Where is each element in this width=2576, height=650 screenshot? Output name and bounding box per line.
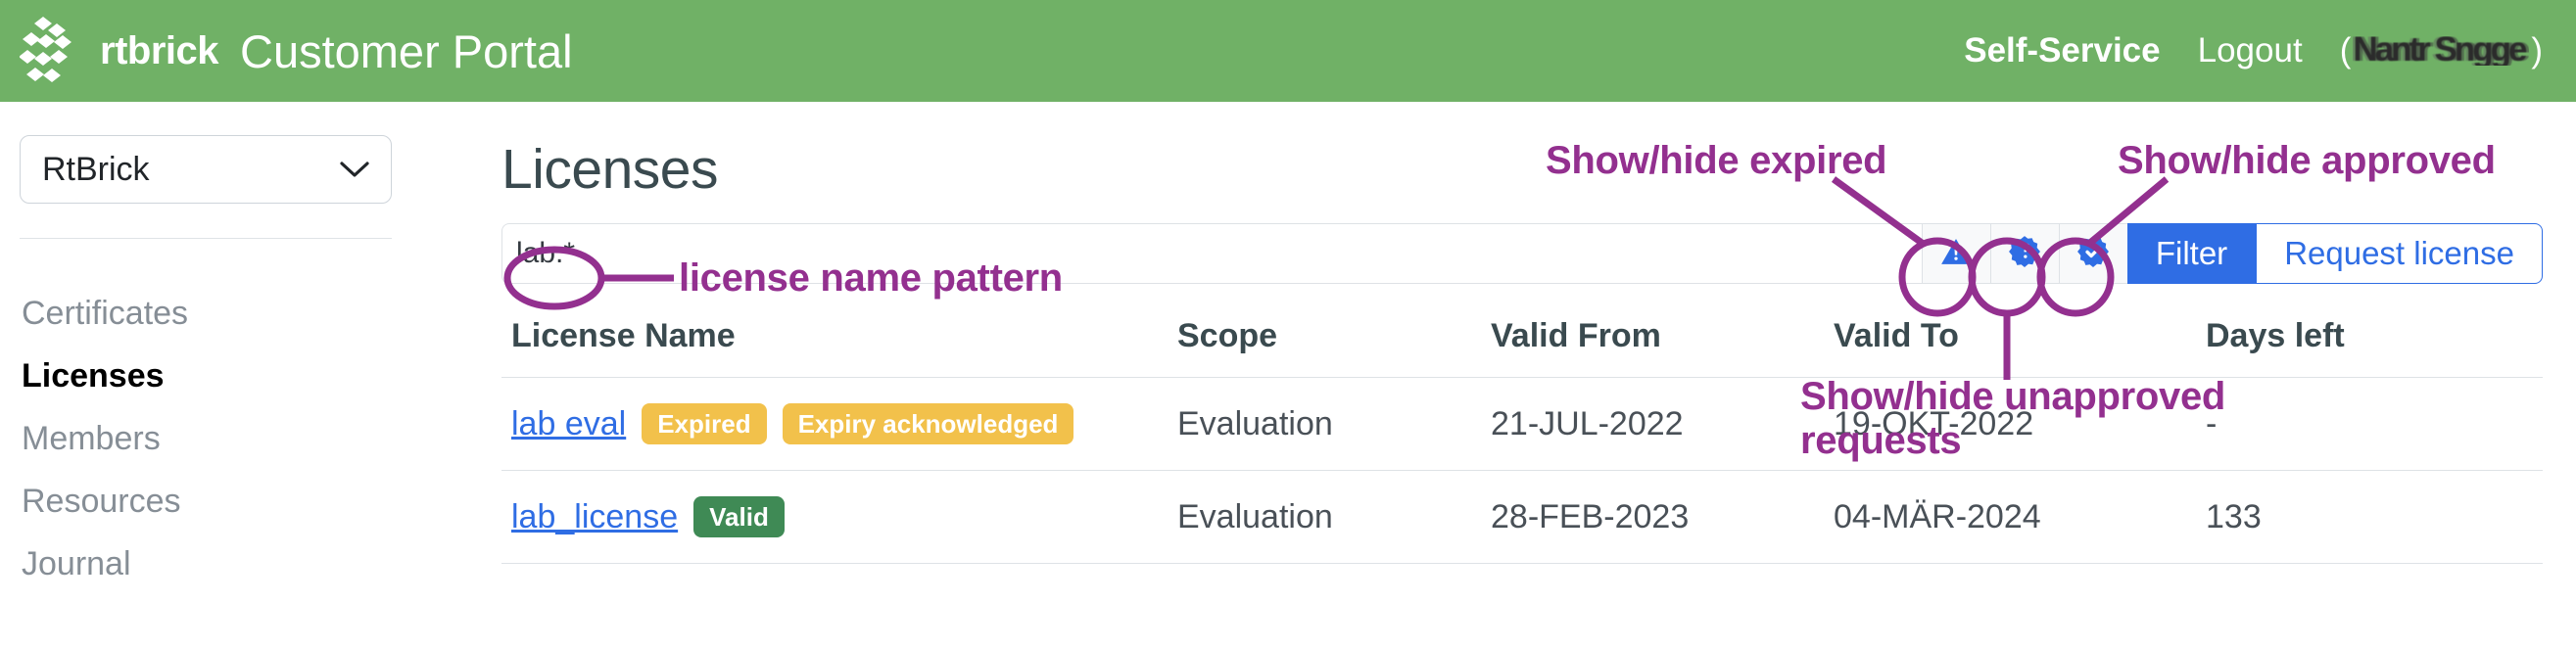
brand-wordmark: rtbrick [100, 31, 218, 70]
column-header-valid-from[interactable]: Valid From [1491, 317, 1834, 378]
app-root: rtbrick Customer Portal Self-Service Log… [0, 0, 2576, 650]
status-badge: Expired [642, 403, 766, 444]
show-hide-unapproved-requests-button[interactable] [1990, 223, 2059, 284]
sidebar: RtBrick Certificates Licenses Members Re… [0, 102, 411, 595]
page-title: Licenses [501, 137, 2576, 202]
current-user: ( Nantr Sngge ) [2340, 31, 2543, 70]
sidebar-divider [20, 238, 392, 239]
license-name-link[interactable]: lab_license [511, 498, 678, 536]
app-title: Customer Portal [240, 28, 573, 74]
table-row[interactable]: lab_license Valid Evaluation 28-FEB-2023… [501, 471, 2543, 564]
search-input-value: lab.* [516, 237, 575, 270]
table-header-row: License Name Scope Valid From Valid To D… [501, 317, 2543, 378]
app-header: rtbrick Customer Portal Self-Service Log… [0, 0, 2576, 102]
show-hide-approved-button[interactable] [2059, 223, 2127, 284]
sidebar-item-label: Members [22, 420, 161, 458]
cell-scope: Evaluation [1177, 378, 1491, 471]
main-content: Licenses lab.* [501, 102, 2576, 564]
cell-license-name: lab eval Expired Expiry acknowledged [501, 378, 1177, 471]
user-name-redacted: Nantr Sngge [2353, 36, 2529, 66]
user-paren-close: ) [2531, 31, 2543, 70]
header-nav: Self-Service Logout ( Nantr Sngge ) [1964, 31, 2543, 70]
cell-scope: Evaluation [1177, 471, 1491, 564]
sidebar-item-resources[interactable]: Resources [0, 470, 411, 533]
license-name-link[interactable]: lab eval [511, 405, 626, 443]
search-input[interactable]: lab.* [501, 223, 1922, 284]
sidebar-item-journal[interactable]: Journal [0, 533, 411, 595]
status-badge: Valid [693, 496, 785, 537]
sidebar-item-licenses[interactable]: Licenses [0, 345, 411, 407]
cell-valid-from: 21-JUL-2022 [1491, 378, 1834, 471]
chevron-down-icon [340, 161, 369, 178]
license-toolbar: lab.* [501, 223, 2543, 284]
column-header-days-left[interactable]: Days left [2206, 317, 2543, 378]
table-row[interactable]: lab eval Expired Expiry acknowledged Eva… [501, 378, 2543, 471]
filter-button[interactable]: Filter [2127, 223, 2256, 284]
licenses-table-head: License Name Scope Valid From Valid To D… [501, 317, 2543, 378]
cell-valid-to: 19-OKT-2022 [1834, 378, 2206, 471]
status-badge: Expiry acknowledged [783, 403, 1074, 444]
licenses-table: License Name Scope Valid From Valid To D… [501, 317, 2543, 564]
org-selector[interactable]: RtBrick [20, 135, 392, 204]
cell-valid-from: 28-FEB-2023 [1491, 471, 1834, 564]
brand[interactable]: rtbrick Customer Portal [20, 13, 573, 89]
cell-days-left: 133 [2206, 471, 2543, 564]
sidebar-nav: Certificates Licenses Members Resources … [0, 282, 411, 595]
nav-logout[interactable]: Logout [2198, 31, 2303, 70]
request-license-button[interactable]: Request license [2256, 223, 2543, 284]
column-header-license-name[interactable]: License Name [501, 317, 1177, 378]
cell-license-name: lab_license Valid [501, 471, 1177, 564]
sidebar-item-certificates[interactable]: Certificates [0, 282, 411, 345]
patch-question-icon [2008, 235, 2041, 273]
column-header-scope[interactable]: Scope [1177, 317, 1491, 378]
org-selector-value: RtBrick [42, 151, 340, 189]
patch-check-icon [2076, 235, 2110, 273]
cell-valid-to: 04-MÄR-2024 [1834, 471, 2206, 564]
sidebar-item-label: Journal [22, 545, 131, 583]
rtbrick-cube-logo-icon [20, 13, 96, 89]
warning-triangle-icon [1939, 235, 1973, 273]
sidebar-item-label: Certificates [22, 295, 188, 333]
licenses-table-body: lab eval Expired Expiry acknowledged Eva… [501, 378, 2543, 564]
cell-days-left: - [2206, 378, 2543, 471]
column-header-valid-to[interactable]: Valid To [1834, 317, 2206, 378]
sidebar-item-label: Resources [22, 483, 181, 521]
nav-self-service[interactable]: Self-Service [1964, 31, 2160, 70]
show-hide-expired-button[interactable] [1922, 223, 1990, 284]
user-paren-open: ( [2340, 31, 2352, 70]
sidebar-item-members[interactable]: Members [0, 407, 411, 470]
sidebar-item-label: Licenses [22, 357, 165, 395]
